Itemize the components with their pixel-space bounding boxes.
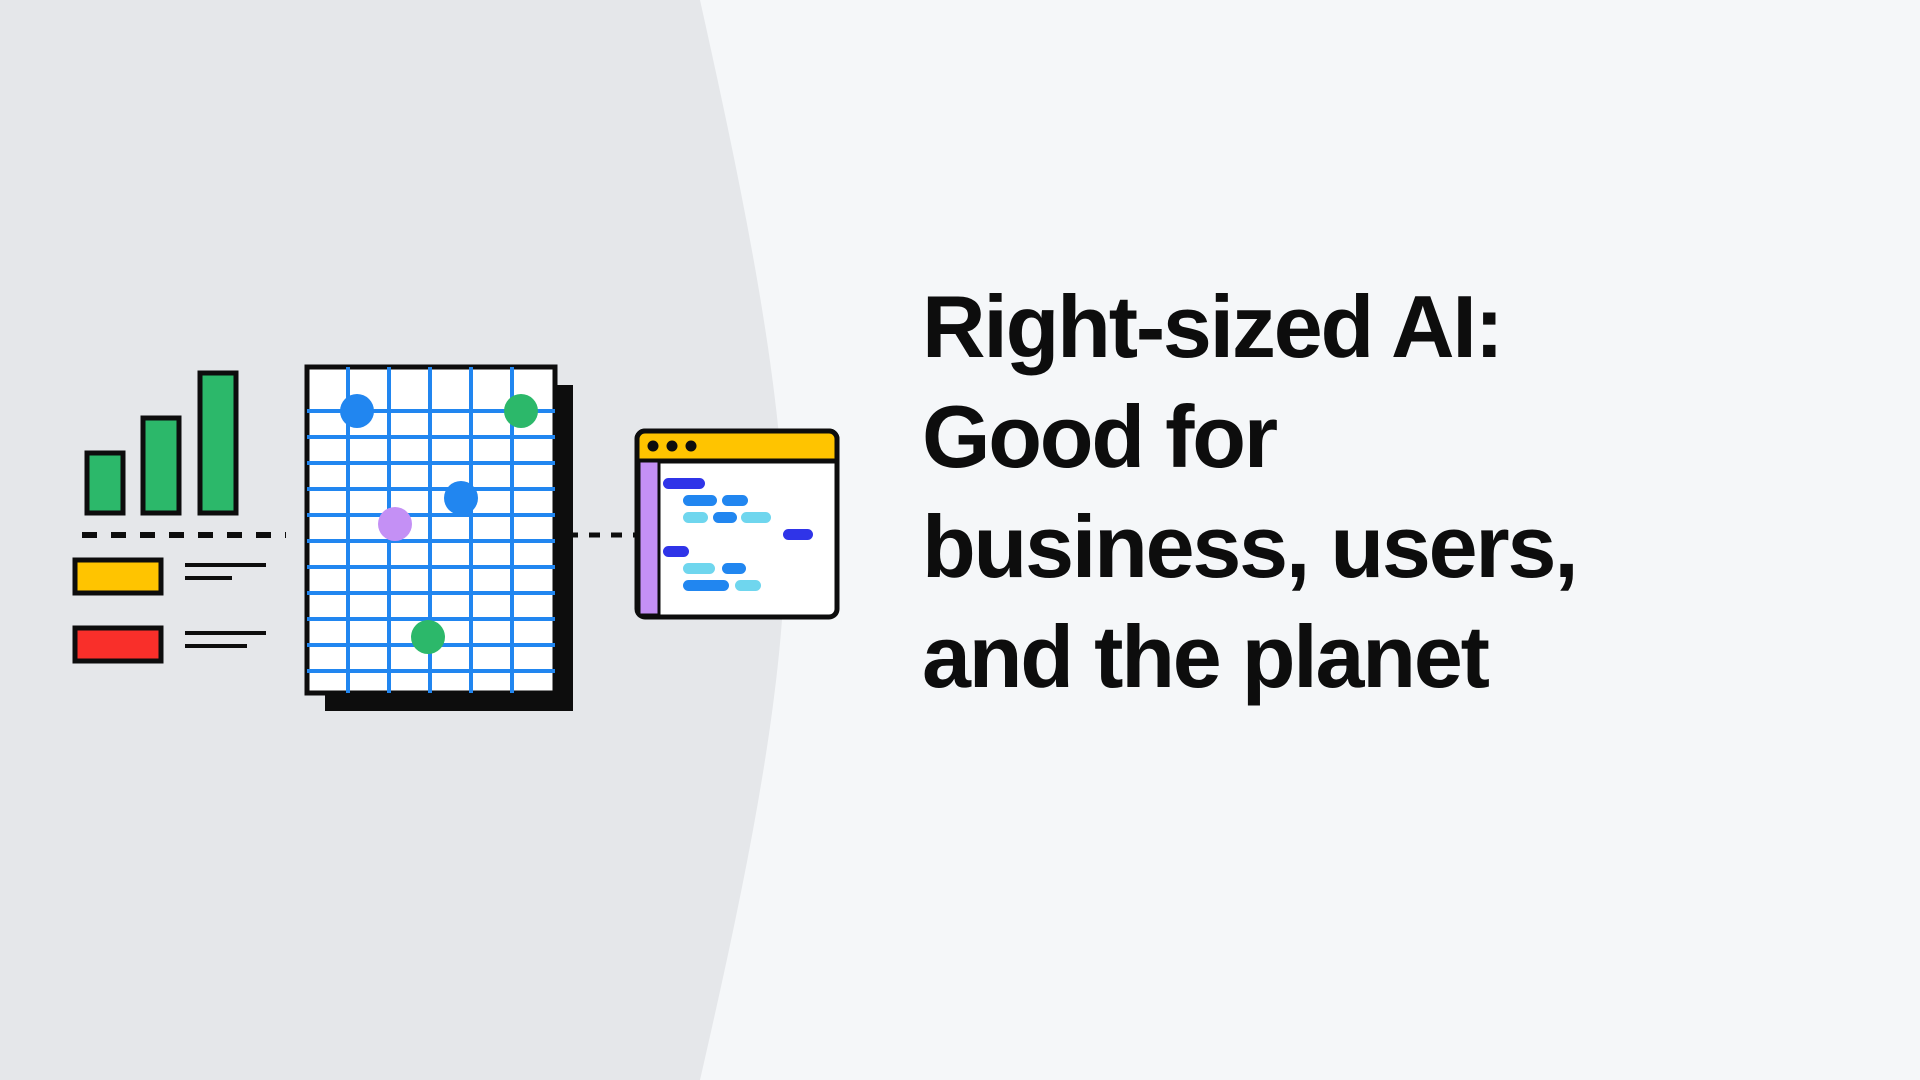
- code-token: [741, 512, 771, 523]
- bar-chart-bar-2: [143, 418, 179, 513]
- code-token: [735, 580, 761, 591]
- code-token: [663, 478, 705, 489]
- window-sidebar: [639, 461, 659, 615]
- point-green-1: [504, 394, 538, 428]
- legend-item-yellow: [75, 560, 266, 593]
- page-title-line-3: business, users,: [922, 492, 1782, 602]
- code-token: [683, 512, 708, 523]
- page-title-line-2: Good for: [922, 382, 1782, 492]
- page-title-line-4: and the planet: [922, 602, 1782, 712]
- page-title: Right-sized AI: Good for business, users…: [922, 272, 1782, 712]
- scatter-grid-panel: [307, 367, 573, 711]
- point-blue-2: [444, 481, 478, 515]
- window-dot-icon: [686, 441, 697, 452]
- bar-chart: [87, 373, 236, 513]
- page-title-line-1: Right-sized AI:: [922, 272, 1782, 382]
- window-dot-icon: [648, 441, 659, 452]
- legend-item-red: [75, 628, 266, 661]
- code-token: [683, 563, 715, 574]
- code-token: [783, 529, 813, 540]
- code-token: [722, 563, 746, 574]
- bar-chart-bar-3: [200, 373, 236, 513]
- code-token: [722, 495, 748, 506]
- code-token: [683, 580, 729, 591]
- point-green-2: [411, 620, 445, 654]
- point-blue-1: [340, 394, 374, 428]
- hero-illustration: [0, 0, 900, 1080]
- bar-chart-bar-1: [87, 453, 123, 513]
- code-token: [663, 546, 689, 557]
- code-token: [683, 495, 717, 506]
- legend-swatch-yellow: [75, 560, 161, 593]
- legend-swatch-red: [75, 628, 161, 661]
- point-purple-1: [378, 507, 412, 541]
- code-window-mockup: [637, 431, 837, 617]
- code-token: [713, 512, 737, 523]
- window-dot-icon: [667, 441, 678, 452]
